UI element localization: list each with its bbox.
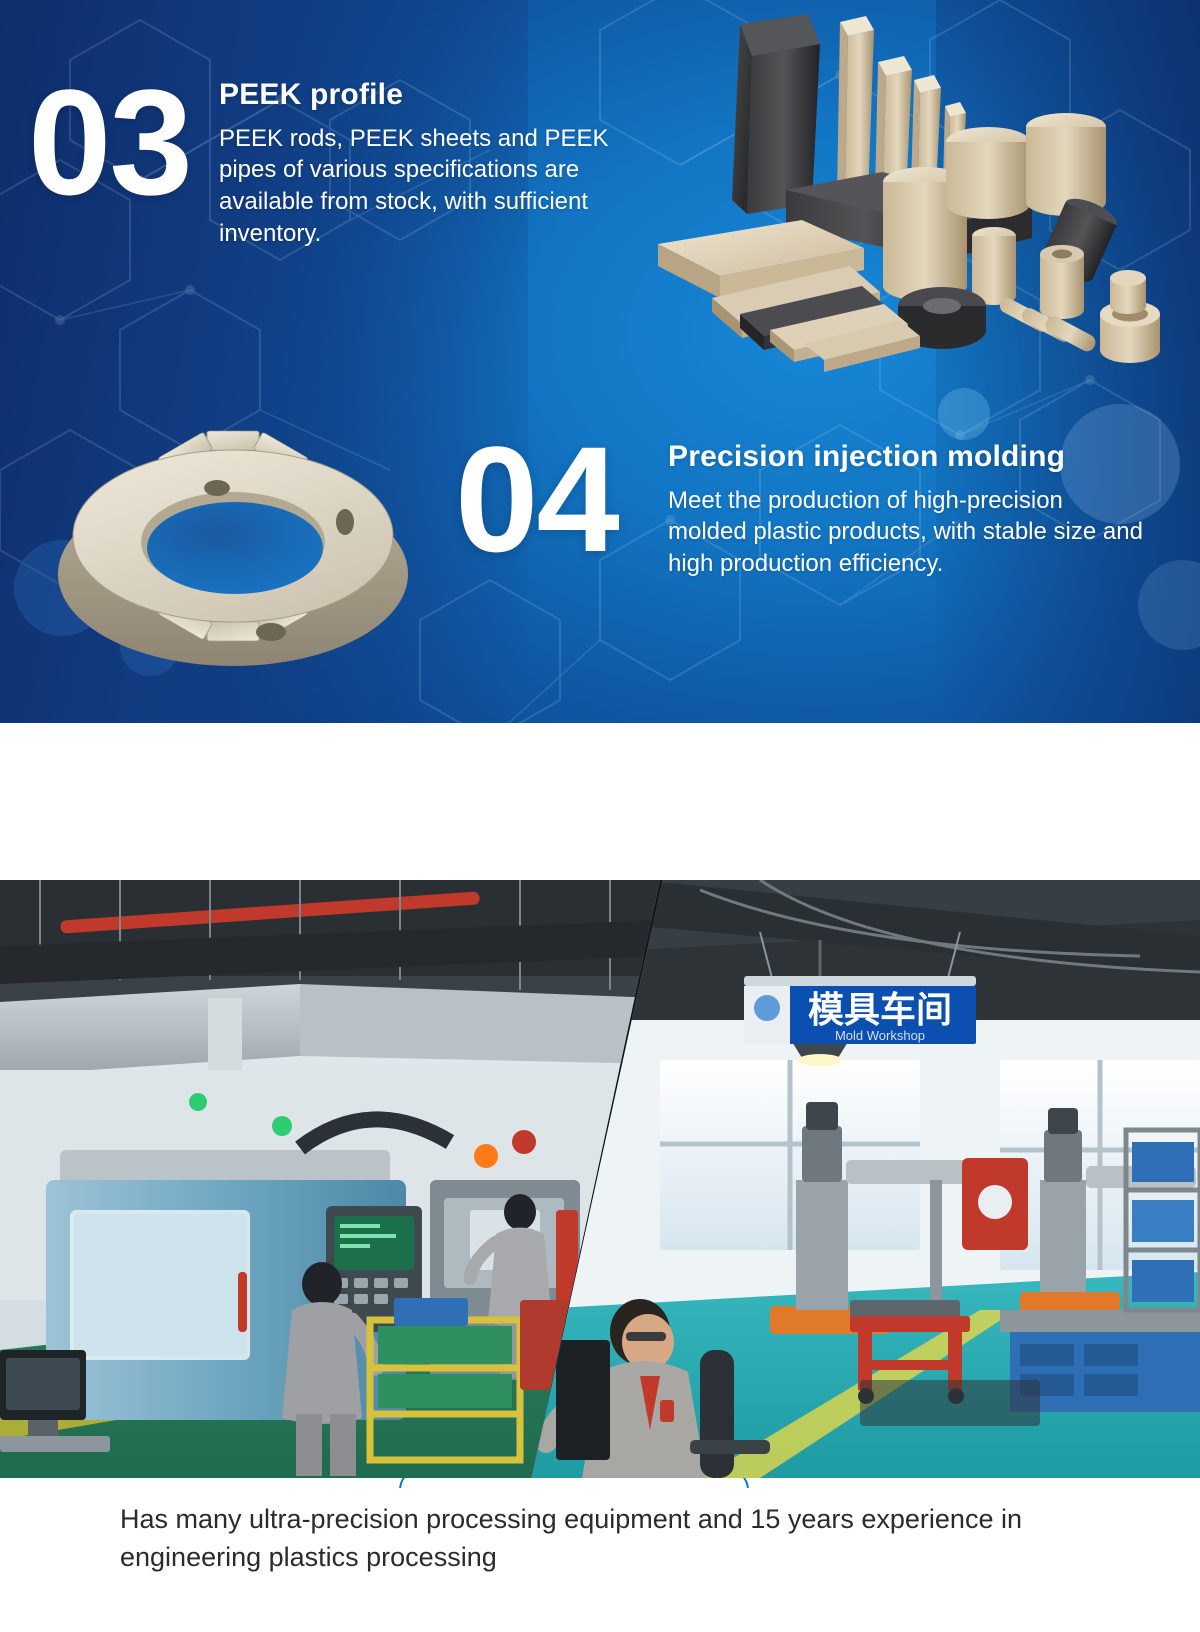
hero-item-title-03: PEEK profile — [219, 78, 649, 113]
hero-banner: 03 PEEK profile PEEK rods, PEEK sheets a… — [0, 0, 1200, 723]
hero-item-03: PEEK profile PEEK rods, PEEK sheets and … — [219, 78, 649, 250]
gallery-caption: Has many ultra-precision processing equi… — [0, 1488, 1200, 1632]
strengths-divider: Our strengths — [0, 723, 1200, 880]
mold-workshop-sign-en: Mold Workshop — [835, 1028, 925, 1043]
hero-item-body-03: PEEK rods, PEEK sheets and PEEK pipes of… — [219, 123, 649, 251]
hero-item-body-04: Meet the production of high-precision mo… — [668, 485, 1148, 581]
peek-stock-shapes-photo — [612, 14, 1200, 374]
mold-workshop-sign-cn: 模具车间 — [808, 990, 952, 1031]
factory-photo-gallery: 模具车间 Mold Workshop — [0, 880, 1200, 1478]
hero-item-title-04: Precision injection molding — [668, 440, 1148, 475]
hero-item-04: Precision injection molding Meet the pro… — [668, 440, 1148, 580]
hero-item-number-03: 03 — [28, 75, 191, 210]
bokeh-circle — [938, 388, 990, 440]
gallery-caption-text: Has many ultra-precision processing equi… — [120, 1500, 1120, 1577]
hero-item-number-04: 04 — [455, 432, 618, 567]
peek-machined-gear-ring-photo — [28, 386, 438, 686]
